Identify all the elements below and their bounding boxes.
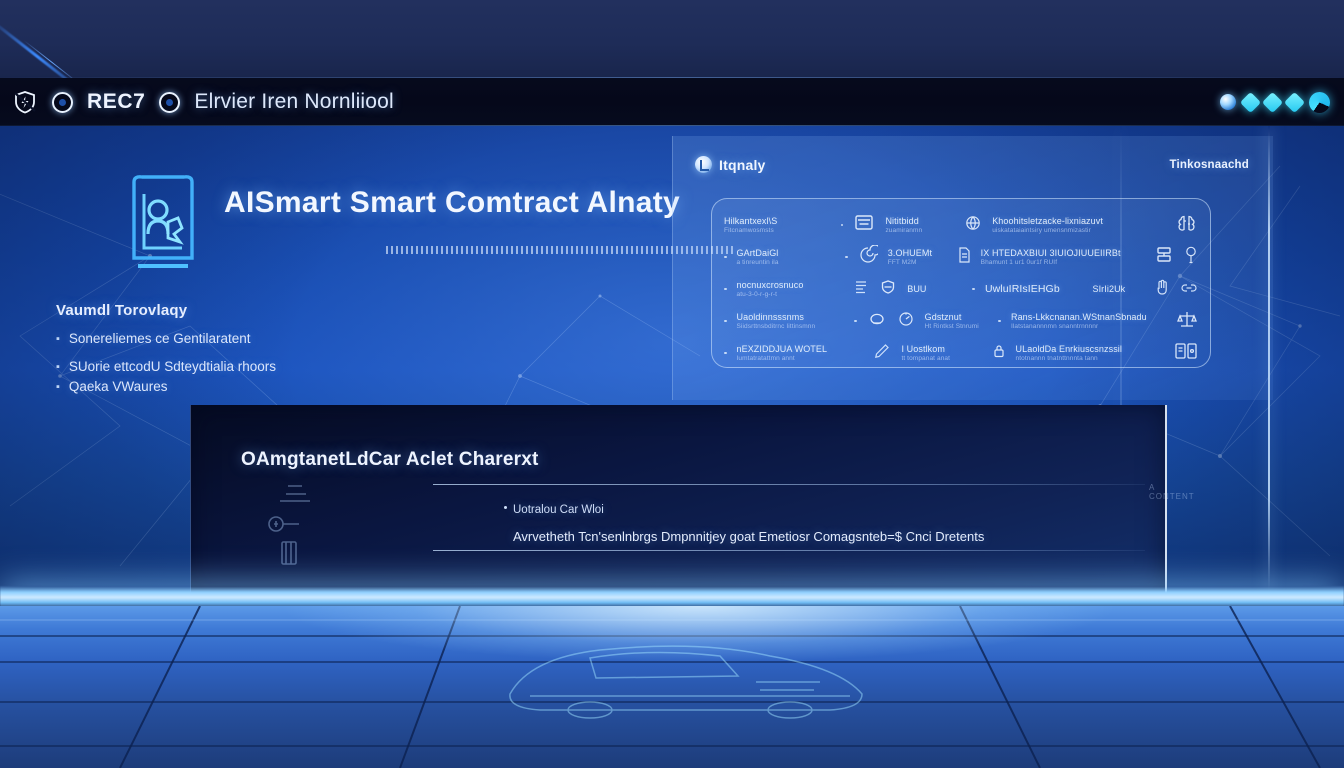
stage-floor [0,606,1344,768]
server-stack-icon[interactable] [1154,245,1174,270]
row-mid-cell: I Uostlkom tt tompanat anat [901,344,981,362]
anomaly-brand: Itqnaly [695,156,766,173]
bullet-icon [504,506,507,509]
row-dot [854,320,857,323]
app-header: REC7 Elrvier Iren Nornliiool [0,78,1344,126]
row-detail-sub: SIrIi2Uk [1092,284,1144,294]
list-item[interactable]: ▪ SUorie ettcodU Sdteydtialia rhoors [56,359,356,375]
panel-corner-label: Tinkosnaachd [1169,159,1249,171]
row-detail-sub: ntotnannn tnatnttnnnta tann [1016,355,1164,362]
row-mid-cell: BUU [907,284,962,294]
row-primary-text: GArtDaiGl [737,248,836,258]
list-item-label: SUorie ettcodU Sdteydtialia rhoors [69,359,276,375]
certificate-document-icon [124,172,202,276]
loop-icon[interactable] [867,310,887,333]
row-mid-sub: tt tompanat anat [901,355,981,362]
anomaly-panel: Itqnaly Tinkosnaachd Hilkantxexl\S Fitcn… [672,136,1273,400]
list-item[interactable]: ▪ Sonereliemes ce Gentilaratent [56,331,356,347]
scales-balance-icon[interactable] [1176,309,1198,334]
row-secondary-text: Siidsrttnsbditrnc Iittinsmnn [737,323,845,330]
panel-line-2: Avrvetheth Tcn'senlnbrgs Dmpnnitjey goat… [513,529,984,544]
row-detail-text: IX HTEDAXBIUI 3IUIOJIUUEIIRBt [981,248,1144,258]
row-mid-cell: Nititbidd zuamiranmn [885,216,954,234]
spiral-icon[interactable] [858,245,878,270]
row-detail-text: Khoohitsletzacke-lixniazuvt [992,216,1166,226]
diamond-icon-3[interactable] [1284,91,1305,112]
hand-icon[interactable] [1154,278,1170,301]
row-detail-sub-cell: SIrIi2Uk [1092,284,1144,294]
row-mid-cell: Gdstznut Ht Rintkst Stnrumi [925,312,989,330]
bullet-icon: ▪ [56,359,60,375]
left-list-heading: Vaumdl Torovlaqy [56,302,356,319]
row-detail-sub: uiskatataiaintsiry umensnmizastir [992,227,1166,234]
lock-icon[interactable] [992,343,1006,364]
row-detail-cell: IX HTEDAXBIUI 3IUIOJIUUEIIRBt Bhamunt 1 … [981,248,1144,266]
row-dot [724,288,727,291]
row-mid-text: 3.OHUEMt [888,248,947,258]
row-detail-cell: ULaoldDa Enrkiuscsnzssil ntotnannn tnatn… [1016,344,1164,362]
row-dot [998,320,1001,323]
contract-alert-panel: OAmgtanetLdCar Aclet Charerxt A CONTENT … [190,405,1167,596]
panel-side-icons [262,484,318,570]
row-mid-text: BUU [907,284,962,294]
row-dot [841,224,844,227]
table-row[interactable]: Hilkantxexl\S Fitcnamwosmsts Nititbidd z… [724,209,1198,241]
link-chain-icon[interactable] [1180,280,1198,299]
row-detail-text: UwluIRIsIEHGb [985,283,1083,295]
anomaly-panel-header: Itqnaly Tinkosnaachd [673,136,1273,173]
panel-divider-top [433,484,1145,485]
row-secondary-text: atu-3-0-r-g-r-t [737,291,844,298]
bullet-icon: ▪ [56,379,60,395]
row-secondary-text: Iumtatratattmn annt [737,355,864,362]
row-detail-text: Rans-Lkkcnanan.WStnanSbnadu [1011,312,1166,322]
ring-icon[interactable] [52,92,73,113]
anomaly-badge-icon [695,156,712,173]
row-primary-cell: GArtDaiGl a tinreuntin ila [737,248,836,266]
pacman-circle-icon[interactable] [1309,92,1330,113]
hero-title-block: AISmart Smart Comtract Alnaty [124,172,736,276]
sphere-icon[interactable] [1220,94,1236,110]
row-primary-text: nEXZIDDJUA WOTEL [737,344,864,354]
car-hologram [470,624,890,734]
document-lock-icon[interactable] [1174,341,1198,366]
note-icon[interactable] [957,246,971,269]
row-primary-cell: nocnuxcrosnuco atu-3-0-r-g-r-t [737,280,844,298]
row-secondary-text: Fitcnamwosmsts [724,227,831,234]
row-mid-sub: FFT M2M [888,259,947,266]
brand-label: REC7 [87,90,145,114]
list-item-label: Sonereliemes ce Gentilaratent [69,331,251,347]
row-dot [724,320,727,323]
row-primary-cell: Uaoldinnsssnms Siidsrttnsbditrnc Iittins… [737,312,845,330]
list-lines-icon[interactable] [853,278,869,301]
row-dot [724,256,727,259]
screen-root: REC7 Elrvier Iren Nornliiool [0,0,1344,768]
pen-icon[interactable] [873,342,891,365]
balloon-pin-icon[interactable] [1184,245,1198,270]
left-feature-list: Vaumdl Torovlaqy ▪ Sonereliemes ce Genti… [56,302,356,407]
anomaly-brand-label: Itqnaly [719,157,766,173]
top-strip [0,0,1344,78]
page-title: AISmart Smart Comtract Alnaty [224,186,736,220]
row-primary-text: Hilkantxexl\S [724,216,831,226]
row-dot [724,352,727,355]
row-detail-sub: Bhamunt 1 ur1 0ur1f RUIf [981,259,1144,266]
table-row[interactable]: Uaoldinnsssnms Siidsrttnsbditrnc Iittins… [724,305,1198,337]
row-detail-cell: Khoohitsletzacke-lixniazuvt uiskatataiai… [992,216,1166,234]
row-dot [845,256,848,259]
shield-small-icon[interactable] [879,279,897,300]
brain-icon[interactable] [1176,212,1198,239]
table-row[interactable]: GArtDaiGl a tinreuntin ila 3.OHUEMt FFT … [724,241,1198,273]
row-mid-text: Gdstznut [925,312,989,322]
row-primary-text: Uaoldinnsssnms [737,312,845,322]
row-primary-cell: nEXZIDDJUA WOTEL Iumtatratattmn annt [737,344,864,362]
table-row[interactable]: nEXZIDDJUA WOTEL Iumtatratattmn annt I U… [724,337,1198,368]
row-detail-sub: Ilatstanannnmn snanntrnnnnr [1011,323,1166,330]
list-card-icon[interactable] [853,213,875,238]
row-secondary-text: a tinreuntin ila [737,259,836,266]
shield-bolt-icon[interactable] [12,90,38,114]
diamond-icon-1[interactable] [1240,91,1261,112]
panel-title: OAmgtanetLdCar Aclet Charerxt [241,449,539,471]
header-status-icons [1220,92,1344,113]
panel-divider-bottom [433,550,1145,551]
row-mid-cell: 3.OHUEMt FFT M2M [888,248,947,266]
row-dot [972,288,975,291]
list-item[interactable]: ▪ Qaeka VWaures [56,379,356,395]
panel-tag: A CONTENT [1149,483,1195,501]
header-subtitle: Elrvier Iren Nornliiool [194,90,394,114]
row-mid-text: Nititbidd [885,216,954,226]
row-detail-text: ULaoldDa Enrkiuscsnzssil [1016,344,1164,354]
ring-icon-secondary[interactable] [159,92,180,113]
gauge-icon[interactable] [897,310,915,333]
diamond-icon-2[interactable] [1262,91,1283,112]
table-row[interactable]: nocnuxcrosnuco atu-3-0-r-g-r-t BUU [724,273,1198,305]
row-mid-sub: Ht Rintkst Stnrumi [925,323,989,330]
globe-network-icon[interactable] [964,214,982,237]
hero-text-column: AISmart Smart Comtract Alnaty [224,172,736,254]
header-left-group: REC7 Elrvier Iren Nornliiool [0,90,394,114]
row-detail-cell: UwluIRIsIEHGb [985,283,1083,295]
row-mid-text: I Uostlkom [901,344,981,354]
row-primary-cell: Hilkantxexl\S Fitcnamwosmsts [724,216,831,234]
panel-line-1: Uotralou Car Wloi [513,504,604,516]
list-item-label: Qaeka VWaures [69,379,168,395]
bullet-icon: ▪ [56,331,60,347]
row-primary-text: nocnuxcrosnuco [737,280,844,290]
anomaly-card: Hilkantxexl\S Fitcnamwosmsts Nititbidd z… [711,198,1211,368]
stage-light-beam [0,586,1344,608]
row-mid-sub: zuamiranmn [885,227,954,234]
row-detail-cell: Rans-Lkkcnanan.WStnanSbnadu Ilatstanannn… [1011,312,1166,330]
